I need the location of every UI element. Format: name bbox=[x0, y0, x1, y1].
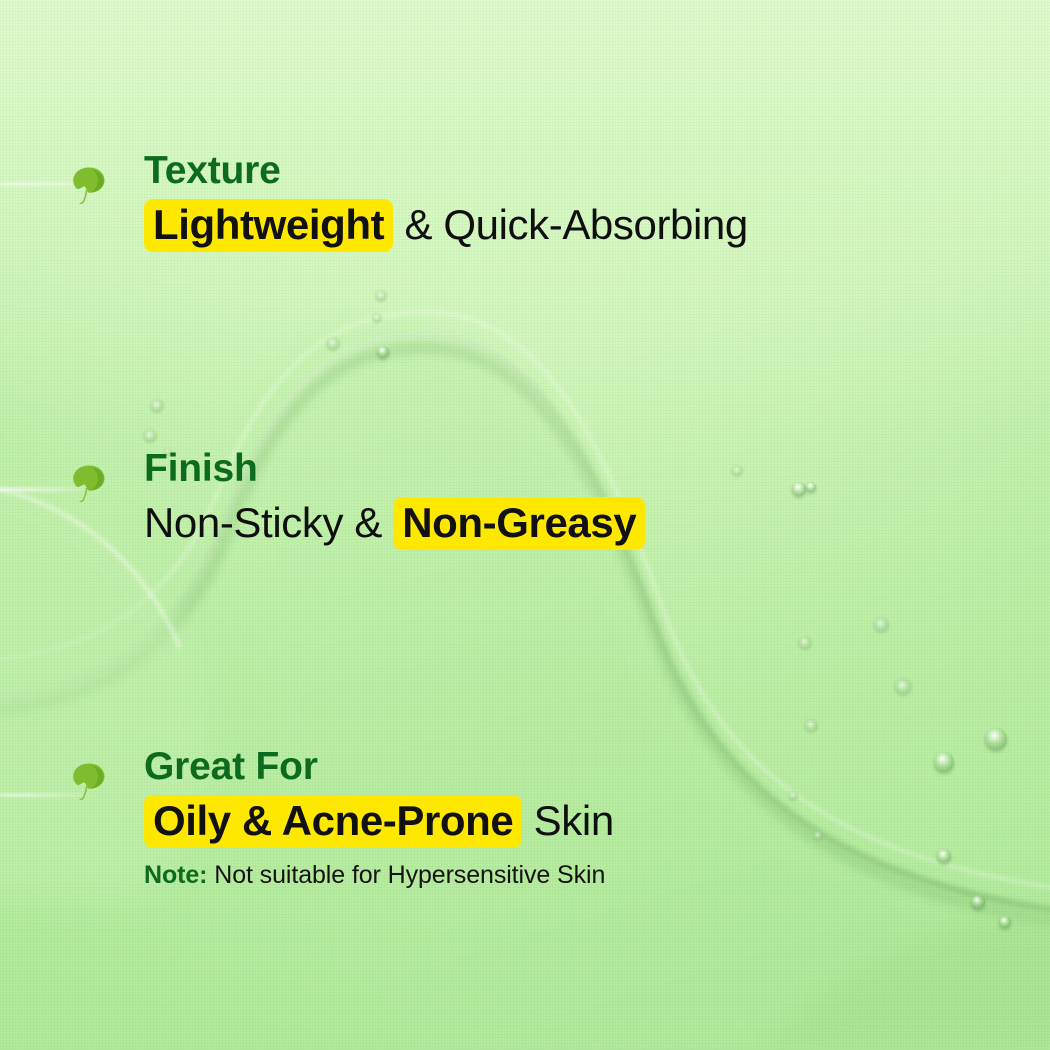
benefit-heading: Texture bbox=[144, 150, 748, 192]
centella-leaf-icon bbox=[72, 464, 106, 502]
benefit-highlight: Non-Greasy bbox=[393, 497, 645, 550]
centella-leaf-icon bbox=[72, 762, 106, 800]
benefit-plain: Skin bbox=[522, 797, 613, 844]
benefit-highlight: Lightweight bbox=[144, 199, 393, 252]
benefit-highlight: Oily & Acne-Prone bbox=[144, 795, 522, 848]
benefit-block-finish: Finish Non-Sticky & Non-Greasy bbox=[72, 448, 645, 548]
benefits-content: Texture Lightweight & Quick-Absorbing Fi… bbox=[0, 0, 1050, 1050]
infographic-canvas: Texture Lightweight & Quick-Absorbing Fi… bbox=[0, 0, 1050, 1050]
benefit-subline: Non-Sticky & Non-Greasy bbox=[144, 497, 645, 548]
benefit-text-finish: Finish Non-Sticky & Non-Greasy bbox=[144, 448, 645, 548]
benefit-note: Note: Not suitable for Hypersensitive Sk… bbox=[144, 861, 614, 890]
benefit-block-texture: Texture Lightweight & Quick-Absorbing bbox=[72, 150, 748, 250]
benefit-heading: Great For bbox=[144, 746, 614, 788]
benefit-subline: Oily & Acne-Prone Skin bbox=[144, 795, 614, 846]
benefit-plain: & Quick-Absorbing bbox=[393, 201, 748, 248]
benefit-heading: Finish bbox=[144, 448, 645, 490]
note-text: Not suitable for Hypersensitive Skin bbox=[207, 861, 605, 889]
benefit-block-great-for: Great For Oily & Acne-Prone Skin Note: N… bbox=[72, 746, 614, 890]
benefit-subline: Lightweight & Quick-Absorbing bbox=[144, 199, 748, 250]
benefit-text-texture: Texture Lightweight & Quick-Absorbing bbox=[144, 150, 748, 250]
centella-leaf-icon bbox=[72, 166, 106, 204]
benefit-text-great-for: Great For Oily & Acne-Prone Skin Note: N… bbox=[144, 746, 614, 890]
benefit-plain: Non-Sticky & bbox=[144, 499, 393, 546]
note-label: Note: bbox=[144, 861, 207, 889]
